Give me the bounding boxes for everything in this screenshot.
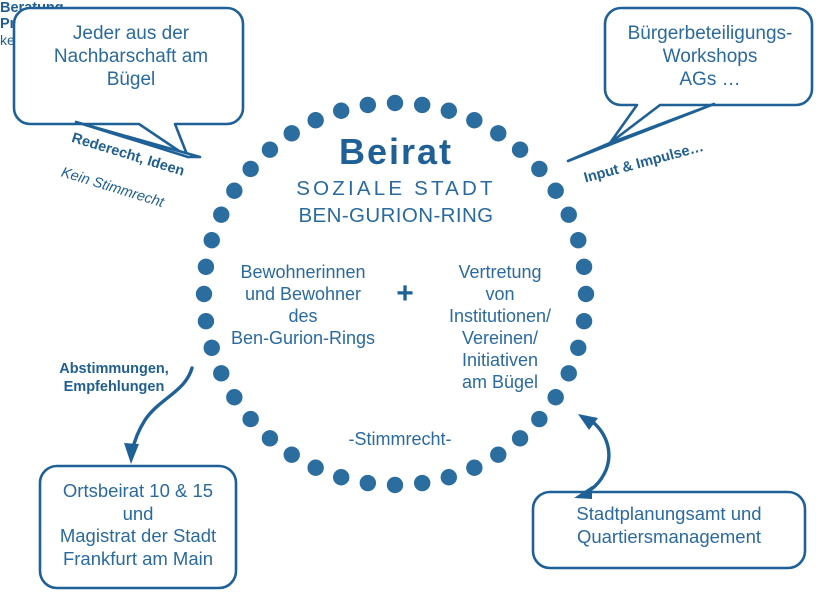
ring-dot	[360, 475, 376, 491]
ring-dot	[466, 460, 482, 476]
ring-dot	[576, 259, 592, 275]
center-subheading-2: BEN-GURION-RING	[268, 203, 524, 228]
center-subheading-1: SOZIALE STADT	[268, 176, 524, 201]
ring-dot	[333, 469, 349, 485]
center-left-column: Bewohnerinnen und Bewohner des Ben-Gurio…	[212, 262, 394, 350]
center-heading: Beirat	[268, 130, 524, 174]
ring-dot	[578, 286, 594, 302]
ring-dot	[333, 103, 349, 119]
ring-dot	[204, 232, 220, 248]
ring-dot	[441, 469, 457, 485]
diagram-canvas: Jeder aus der Nachbarschaft am Bügel Bür…	[0, 0, 820, 600]
ring-dot	[284, 446, 300, 462]
ring-dot	[512, 430, 528, 446]
center-right-column: Vertretung von Institutionen/ Vereinen/ …	[424, 262, 576, 394]
bubble-top-right-text: Bürgerbeteiligungs- Workshops AGs …	[612, 22, 808, 92]
ring-dot	[360, 97, 376, 113]
ring-dot	[547, 183, 563, 199]
ring-dot	[226, 389, 242, 405]
ring-dot	[242, 161, 258, 177]
arrow-beratung-two-way	[574, 414, 609, 499]
ring-dot	[387, 95, 403, 111]
ring-dot	[531, 411, 547, 427]
ring-dot	[307, 112, 323, 128]
ring-dot	[213, 365, 229, 381]
ring-dot	[531, 161, 547, 177]
box-bottom-left-text: Ortsbeirat 10 & 15 und Magistrat der Sta…	[44, 480, 232, 570]
ring-dot	[561, 206, 577, 222]
ring-dot	[387, 477, 403, 493]
box-bottom-right-text: Stadtplanungsamt und Quartiersmanagement	[538, 503, 800, 548]
ring-dot	[262, 430, 278, 446]
ring-dot	[213, 206, 229, 222]
ring-dot	[441, 103, 457, 119]
ring-dot	[414, 475, 430, 491]
ring-dot	[226, 183, 242, 199]
center-footer-stimmrecht: -Stimmrecht-	[315, 429, 485, 451]
ring-dot	[414, 97, 430, 113]
ring-dot	[576, 313, 592, 329]
ring-dot	[196, 286, 212, 302]
ring-dot	[242, 411, 258, 427]
bubble-top-left-text: Jeder aus der Nachbarschaft am Bügel	[26, 22, 236, 92]
arrow-label-abstimmungen: Abstimmungen, Empfehlungen	[44, 361, 184, 396]
ring-dot	[490, 446, 506, 462]
ring-dot	[570, 232, 586, 248]
plus-symbol: +	[390, 276, 420, 313]
ring-dot	[307, 460, 323, 476]
ring-dot	[466, 112, 482, 128]
